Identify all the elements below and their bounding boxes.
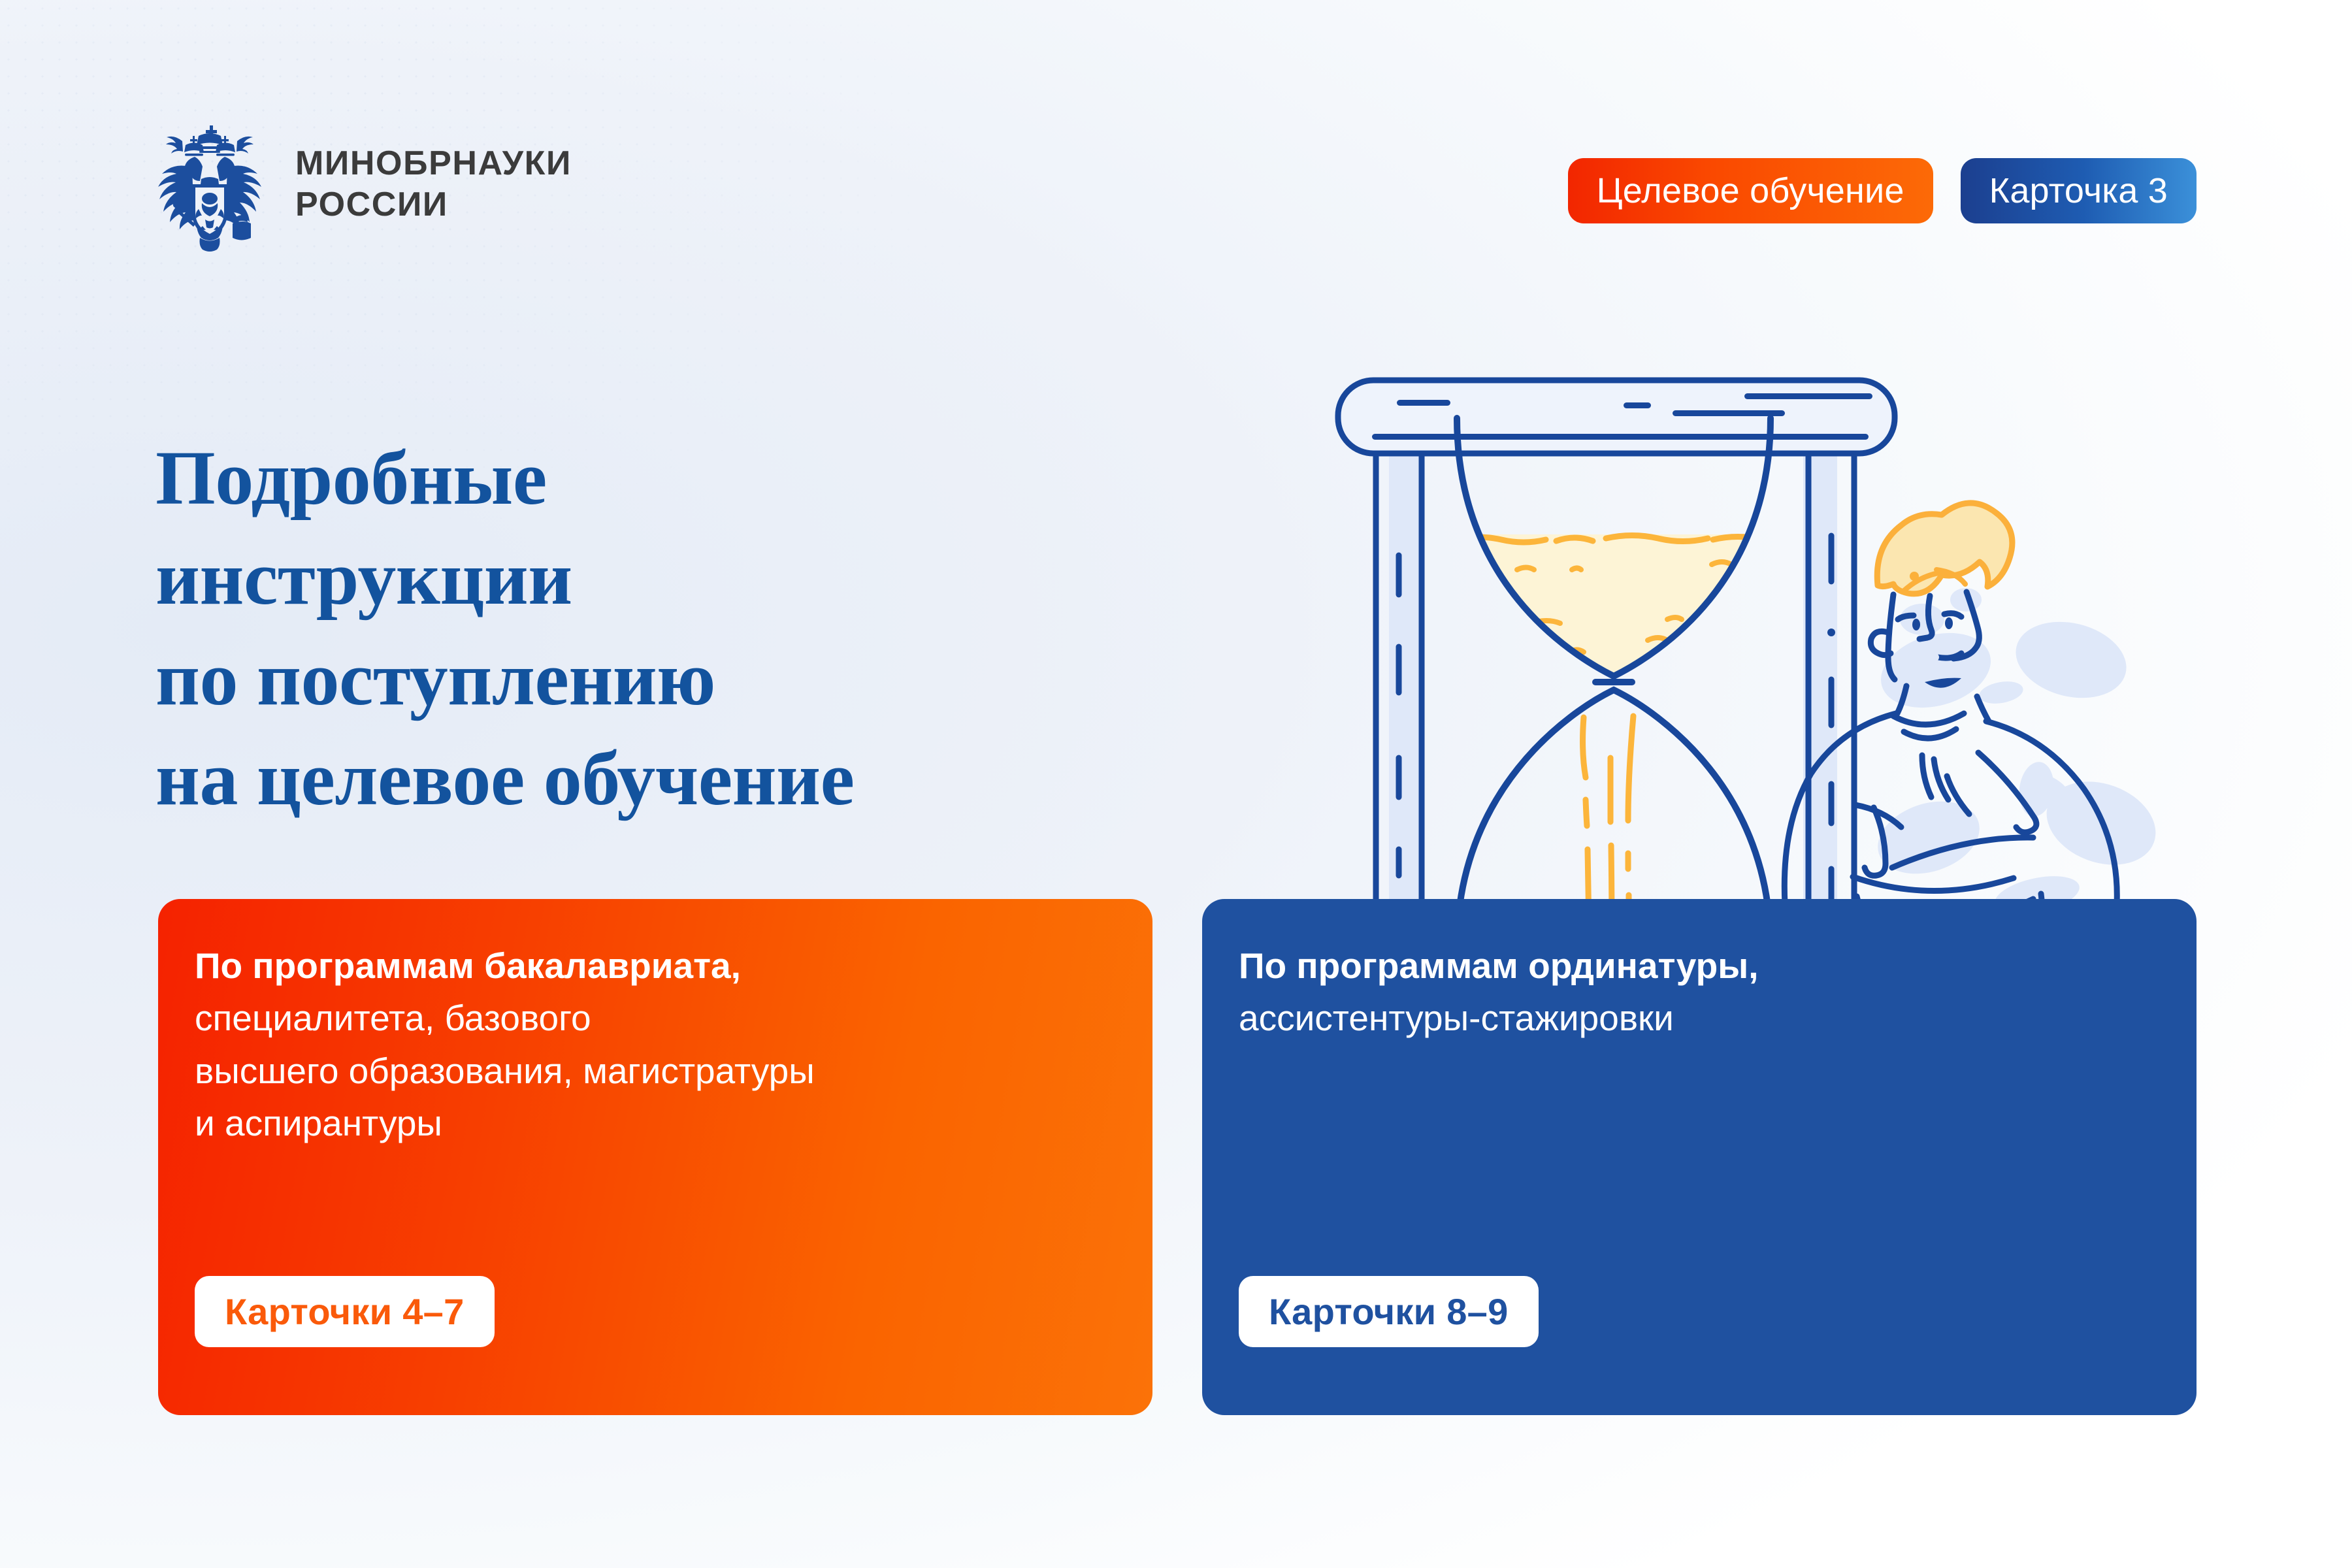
card-bachelor-link-pill[interactable]: Карточки 4–7 — [195, 1276, 495, 1347]
page-title: Подробные инструкции по поступлению на ц… — [155, 428, 855, 829]
russian-double-headed-eagle-icon — [152, 116, 268, 252]
badge-row: Целевое обучение Карточка 3 — [1568, 158, 2197, 223]
card-residency-title-rest: ассистентуры-стажировки — [1239, 998, 1674, 1038]
card-residency-title: По программам ординатуры,ассистентуры-ст… — [1239, 939, 2160, 1045]
hourglass-with-waiting-person-illustration — [1261, 274, 2176, 947]
card-residency-programs: По программам ординатуры,ассистентуры-ст… — [1202, 899, 2197, 1415]
badge-topic[interactable]: Целевое обучение — [1568, 158, 1933, 223]
card-bachelor-programs: По программам бакалавриата,специалитета,… — [158, 899, 1152, 1415]
card-bachelor-title-bold: По программам бакалавриата, — [195, 945, 741, 986]
ministry-wordmark: МИНОБРНАУКИ РОССИИ — [295, 143, 572, 226]
ministry-logo: МИНОБРНАУКИ РОССИИ — [152, 116, 572, 252]
card-bachelor-title: По программам бакалавриата,специалитета,… — [195, 939, 1116, 1149]
poster-canvas: МИНОБРНАУКИ РОССИИ Целевое обучение Карт… — [0, 0, 2352, 1568]
card-bachelor-title-rest: специалитета, базового высшего образован… — [195, 998, 815, 1143]
card-residency-link-pill[interactable]: Карточки 8–9 — [1239, 1276, 1539, 1347]
badge-card-number[interactable]: Карточка 3 — [1961, 158, 2197, 223]
card-residency-title-bold: По программам ординатуры, — [1239, 945, 1759, 986]
